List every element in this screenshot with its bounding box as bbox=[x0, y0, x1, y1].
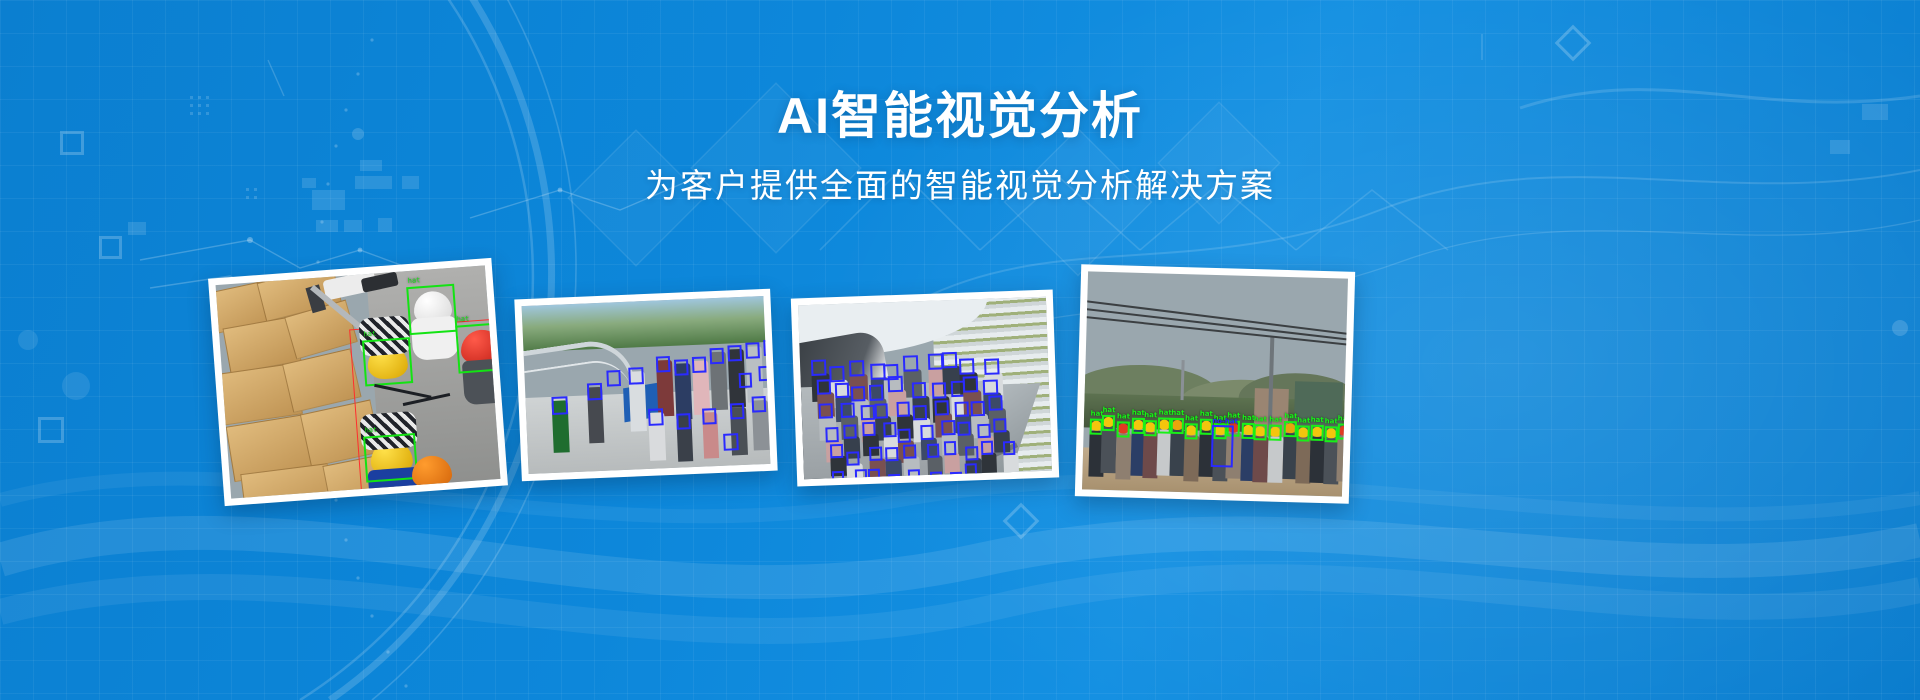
photo-warehouse-helmet-detection: hat hat hat hat bbox=[216, 265, 501, 498]
detection-box-hat bbox=[1116, 421, 1129, 437]
gallery-card-warehouse[interactable]: hat hat hat hat bbox=[208, 258, 508, 506]
detection-box-face bbox=[950, 472, 962, 480]
hero-banner: AI智能视觉分析 为客户提供全面的智能视觉分析解决方案 bbox=[0, 0, 1920, 700]
detection-box-face bbox=[855, 469, 867, 480]
detection-box-face bbox=[913, 405, 927, 420]
detection-box-face bbox=[944, 441, 957, 455]
pedestrian bbox=[981, 452, 997, 473]
detection-box-face bbox=[819, 403, 833, 418]
detection-box-no-hat bbox=[1211, 425, 1234, 468]
detection-box-face bbox=[606, 370, 621, 387]
decor-diamond-2 bbox=[1555, 25, 1592, 62]
detection-box-face bbox=[730, 403, 745, 420]
detection-box-face bbox=[965, 446, 978, 460]
detection-box-face bbox=[846, 451, 859, 465]
detection-box-face bbox=[993, 418, 1007, 433]
decor-block-9 bbox=[378, 218, 392, 232]
detection-box-face bbox=[868, 384, 883, 400]
page-title: AI智能视觉分析 bbox=[0, 86, 1920, 147]
worker-body bbox=[1336, 435, 1348, 481]
detection-box-face bbox=[849, 360, 865, 377]
gallery-card-bridge[interactable] bbox=[514, 289, 777, 482]
detection-box-face bbox=[934, 400, 948, 415]
detection-box-hat bbox=[1324, 426, 1337, 442]
detection-box-face bbox=[903, 444, 916, 458]
detection-box-face bbox=[963, 377, 978, 393]
detection-box-face bbox=[888, 474, 900, 479]
pedestrian bbox=[1003, 453, 1019, 474]
detection-box-face bbox=[1003, 441, 1016, 455]
detection-box-face bbox=[912, 382, 927, 398]
gallery-card-station[interactable] bbox=[791, 289, 1059, 486]
detection-box-face bbox=[727, 345, 742, 362]
detection-box-face bbox=[959, 358, 975, 375]
detection-box-hat bbox=[1102, 415, 1115, 431]
detection-box-hat bbox=[1131, 418, 1144, 434]
detection-box-face bbox=[710, 348, 725, 365]
detection-box-hat bbox=[1253, 424, 1266, 440]
detection-box-face bbox=[957, 421, 971, 436]
decor-block-8 bbox=[344, 220, 362, 232]
detection-box-face bbox=[930, 471, 942, 479]
detection-box-face bbox=[927, 443, 940, 457]
detection-box-face bbox=[942, 420, 956, 435]
detection-label: hat bbox=[1297, 417, 1310, 424]
decor-square-2 bbox=[99, 236, 122, 259]
detection-box-face bbox=[988, 395, 1002, 410]
detection-box-face bbox=[954, 401, 968, 416]
detection-label: hat bbox=[456, 316, 469, 324]
detection-box-face bbox=[551, 396, 568, 415]
detection-box-face bbox=[817, 379, 832, 395]
detection-label-no-hat: no-hat bbox=[1212, 418, 1238, 426]
detection-box-hat bbox=[1337, 423, 1348, 439]
pedestrian bbox=[965, 475, 981, 479]
detection-box-face bbox=[843, 424, 857, 439]
detection-label: hat bbox=[363, 331, 376, 339]
detection-box-face bbox=[752, 396, 767, 413]
detection-box-face bbox=[942, 352, 958, 369]
pedestrian bbox=[944, 452, 960, 473]
detection-box-face bbox=[908, 469, 920, 479]
detection-box-hat bbox=[1185, 423, 1198, 439]
detection-box-face bbox=[763, 339, 770, 356]
gallery: hat hat hat hat bbox=[0, 258, 1920, 518]
detection-box-face bbox=[885, 447, 898, 461]
detection-box-face bbox=[868, 469, 880, 479]
worker-body bbox=[1115, 433, 1131, 479]
detection-box-face bbox=[656, 356, 671, 373]
hero-copy: AI智能视觉分析 为客户提供全面的智能视觉分析解决方案 bbox=[0, 86, 1920, 208]
photo-pedestrian-bridge-crowd bbox=[522, 296, 771, 474]
detection-box-face bbox=[983, 379, 998, 395]
detection-box-hat bbox=[1171, 417, 1184, 433]
detection-box-face bbox=[984, 358, 1000, 375]
detection-box-face bbox=[980, 440, 993, 454]
detection-box-face bbox=[883, 422, 897, 437]
detection-label: hat bbox=[1102, 407, 1115, 414]
page-subtitle: 为客户提供全面的智能视觉分析解决方案 bbox=[0, 165, 1920, 208]
detection-box-face bbox=[830, 444, 843, 458]
detection-box-face bbox=[758, 366, 770, 382]
detection-box-face bbox=[896, 402, 910, 417]
detection-box-hat bbox=[1144, 421, 1157, 437]
detection-box-face bbox=[745, 342, 760, 359]
detection-box-hat bbox=[1297, 425, 1310, 441]
detection-box-face bbox=[869, 447, 882, 461]
detection-label: hat bbox=[1325, 418, 1338, 425]
decor-block-1 bbox=[128, 222, 146, 235]
detection-label: hat bbox=[1269, 417, 1282, 424]
detection-label: hat bbox=[1311, 416, 1324, 423]
detection-label: hat bbox=[1171, 409, 1184, 416]
detection-box-face bbox=[723, 433, 739, 451]
detection-label: hat bbox=[1117, 413, 1130, 420]
detection-box-face bbox=[862, 422, 876, 437]
gallery-card-field[interactable]: hathathathathathathathathathathathathath… bbox=[1075, 264, 1355, 504]
detection-box-face bbox=[832, 470, 844, 479]
detection-box-face bbox=[702, 408, 717, 425]
detection-box-face bbox=[628, 367, 644, 385]
detection-box-face bbox=[648, 408, 664, 426]
detection-box-face bbox=[587, 383, 603, 401]
detection-label: hat bbox=[1284, 413, 1297, 420]
detection-label: hat bbox=[1254, 416, 1267, 423]
detection-box-hat: hat bbox=[362, 337, 413, 386]
tree-line bbox=[522, 296, 766, 352]
detection-box-face bbox=[977, 424, 991, 439]
detection-box-face bbox=[825, 427, 839, 442]
detection-label: hat bbox=[1338, 415, 1348, 422]
power-wire bbox=[1082, 299, 1348, 338]
detection-box-face bbox=[861, 404, 875, 419]
detection-label: hat bbox=[364, 427, 377, 435]
detection-box-face bbox=[676, 413, 691, 430]
detection-box-hat: hat bbox=[363, 433, 418, 483]
detection-box-face bbox=[841, 403, 855, 418]
detection-box-hat: hat bbox=[406, 284, 457, 335]
detection-box-face bbox=[674, 359, 689, 376]
power-wire bbox=[1082, 315, 1348, 348]
photo-outdoor-safety-hat-detection: hathathathathathathathathathathathathath… bbox=[1082, 271, 1348, 496]
detection-box-hat bbox=[1158, 418, 1171, 434]
worker-group: hathathathathathathathathathathathathath… bbox=[1088, 271, 1348, 278]
detection-box-face bbox=[971, 401, 985, 416]
detection-box-hat: hat bbox=[455, 322, 500, 374]
detection-label: hat bbox=[1185, 415, 1198, 422]
detection-box-face bbox=[739, 373, 753, 389]
detection-box-face bbox=[965, 464, 977, 478]
detection-label: hat bbox=[1200, 411, 1213, 418]
worker-body bbox=[1252, 436, 1268, 482]
detection-box-face bbox=[835, 383, 850, 399]
detection-box-hat bbox=[1199, 419, 1212, 435]
decor-block-7 bbox=[316, 220, 338, 232]
detection-label: hat bbox=[1132, 410, 1145, 417]
photo-station-escalator-crowd bbox=[798, 297, 1052, 480]
detection-box-face bbox=[897, 428, 911, 443]
detection-box-face bbox=[811, 359, 827, 376]
detection-box-face bbox=[692, 356, 707, 373]
detection-label: hat bbox=[408, 277, 421, 285]
detection-label: hat bbox=[1159, 410, 1172, 417]
detection-box-face bbox=[920, 425, 934, 440]
detection-label: hat bbox=[1144, 413, 1157, 420]
detection-box-face bbox=[830, 366, 846, 383]
detection-box-face bbox=[903, 355, 919, 372]
worker-body bbox=[1101, 427, 1117, 473]
detection-box-face bbox=[932, 382, 947, 398]
detection-box-face bbox=[874, 403, 888, 418]
detection-box-hat bbox=[1269, 425, 1282, 441]
power-wire bbox=[1082, 307, 1348, 343]
detection-box-face bbox=[851, 386, 866, 402]
detection-box-face bbox=[888, 376, 903, 392]
worker-body bbox=[1267, 437, 1283, 483]
detection-box-hat bbox=[1284, 421, 1297, 437]
detection-box-hat bbox=[1310, 424, 1323, 440]
worker-body bbox=[1183, 435, 1199, 481]
